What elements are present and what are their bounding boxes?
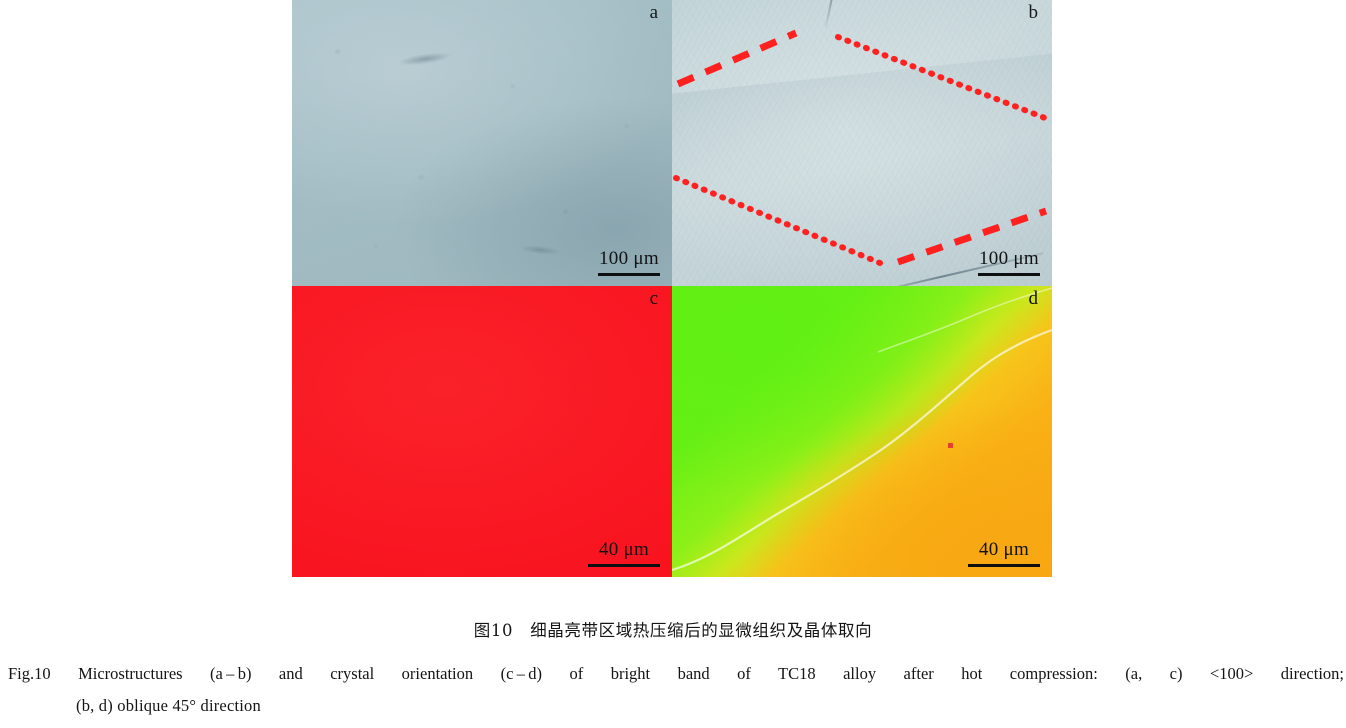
scalebar-label-d: 40 μm (968, 540, 1040, 561)
annotation-dotted-lower-left (676, 178, 880, 263)
panel-label-a: a (650, 2, 658, 25)
figure-caption-chinese: 图10 细晶亮带区域热压缩后的显微组织及晶体取向 (0, 617, 1346, 641)
figure-panel-grid: a 100 μm b 100 μm c 40 (292, 0, 1052, 577)
scalebar-panel-b: 100 μm (978, 249, 1040, 276)
figure-caption-english-line2: (b, d) oblique 45° direction (8, 690, 1344, 722)
scalebar-line-a (598, 273, 660, 276)
figure-caption-english: Fig.10 Microstructures (a – b) and cryst… (8, 658, 1344, 722)
scalebar-label-a: 100 μm (598, 249, 660, 270)
scalebar-panel-a: 100 μm (598, 249, 660, 276)
figure-caption-english-line1: Fig.10 Microstructures (a – b) and cryst… (8, 658, 1344, 690)
panel-d-marker-dot (948, 443, 953, 448)
scalebar-line-c (588, 564, 660, 567)
panel-a-texture (292, 0, 672, 286)
panel-d-orientation-map: d 40 μm (672, 286, 1052, 577)
panel-label-c: c (650, 288, 658, 311)
panel-b-parallelogram-annotation (672, 0, 1052, 286)
panel-d-boundary-line-secondary (878, 288, 1052, 352)
panel-d-boundary-line (672, 330, 1052, 570)
scalebar-panel-d: 40 μm (968, 540, 1040, 567)
panel-label-b: b (1029, 2, 1039, 25)
panel-label-d: d (1029, 288, 1039, 311)
panel-c-shading (292, 286, 672, 577)
annotation-dotted-upper-right (838, 37, 1045, 118)
scalebar-line-b (978, 273, 1040, 276)
panel-c-orientation-map: c 40 μm (292, 286, 672, 577)
scalebar-panel-c: 40 μm (588, 540, 660, 567)
panel-d-grain-boundary (672, 286, 1052, 577)
panel-b-micrograph: b 100 μm (672, 0, 1052, 286)
panel-a-micrograph: a 100 μm (292, 0, 672, 286)
scalebar-line-d (968, 564, 1040, 567)
annotation-dashed-upper-left (678, 33, 796, 84)
scalebar-label-b: 100 μm (978, 249, 1040, 270)
scalebar-label-c: 40 μm (588, 540, 660, 561)
